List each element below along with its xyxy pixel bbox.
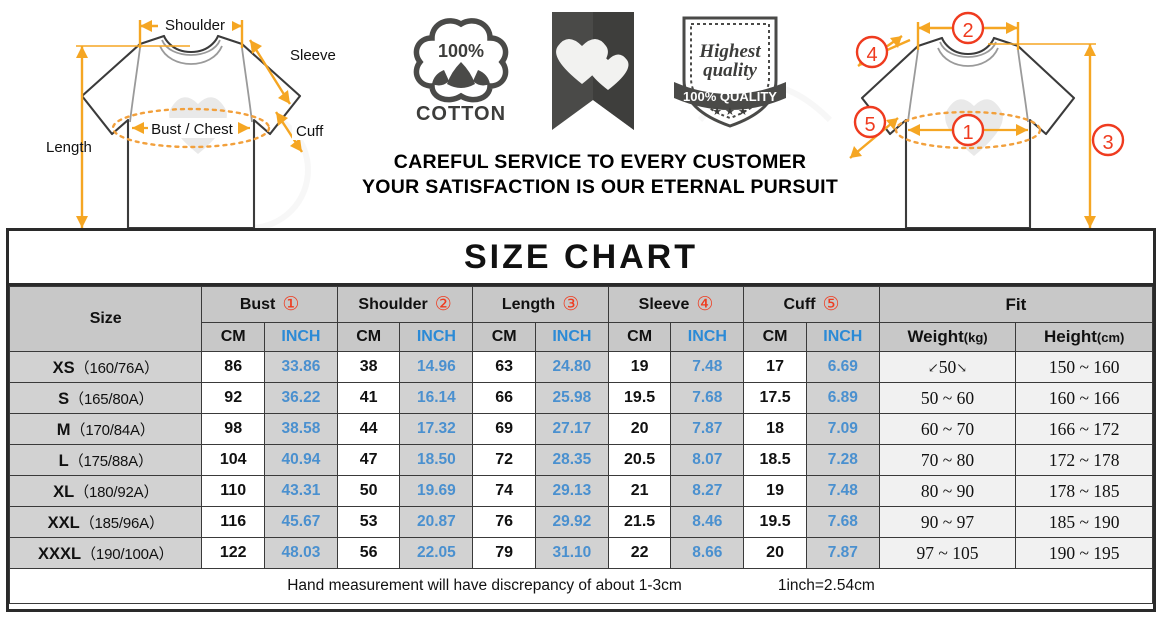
size-spec: （165/80A） <box>69 391 153 408</box>
table-body: XS（160/76A）8633.863814.966324.80197.4817… <box>10 352 1153 569</box>
cell-sleeve-cm: 20.5 <box>608 445 671 476</box>
header-bust-cm: CM <box>202 323 265 352</box>
arrow-right-icon: ↘ <box>956 360 967 375</box>
cell-length-cm: 66 <box>473 383 536 414</box>
cell-bust-in: 48.03 <box>265 538 338 569</box>
cell-sleeve-in: 7.87 <box>671 414 744 445</box>
cell-sleeve-cm: 20 <box>608 414 671 445</box>
size-code: L <box>59 452 69 470</box>
marker-4-icon: ④ <box>696 294 713 315</box>
cell-shoulder-cm: 44 <box>337 414 400 445</box>
page-title: SIZE CHART <box>9 231 1153 286</box>
cell-height: 172 ~ 178 <box>1016 445 1153 476</box>
size-spec: （185/96A） <box>80 515 164 532</box>
hearts-ribbon-badge <box>538 12 648 130</box>
label-bust-chest: Bust / Chest <box>151 121 234 138</box>
table-row: XS（160/76A）8633.863814.966324.80197.4817… <box>10 352 1153 383</box>
top-graphics-area: Shoulder Sleeve Cuff Bust / Chest Length… <box>0 0 1164 228</box>
svg-text:100%: 100% <box>438 41 484 61</box>
cell-size: XXL（185/96A） <box>10 507 202 538</box>
cell-bust-in: 40.94 <box>265 445 338 476</box>
marker-5-icon: ⑤ <box>822 294 839 315</box>
cell-cuff-in: 7.28 <box>806 445 879 476</box>
size-code: S <box>58 390 69 408</box>
cell-height: 166 ~ 172 <box>1016 414 1153 445</box>
cell-length-cm: 79 <box>473 538 536 569</box>
cell-height: 160 ~ 166 <box>1016 383 1153 414</box>
table-row: XXXL（190/100A）12248.035622.057931.10228.… <box>10 538 1153 569</box>
label-sleeve: Sleeve <box>290 47 336 64</box>
size-spec: （175/88A） <box>69 453 153 470</box>
cell-bust-cm: 98 <box>202 414 265 445</box>
cell-bust-cm: 116 <box>202 507 265 538</box>
cell-bust-in: 33.86 <box>265 352 338 383</box>
cell-cuff-in: 7.87 <box>806 538 879 569</box>
cell-length-cm: 72 <box>473 445 536 476</box>
cell-cuff-in: 7.48 <box>806 476 879 507</box>
cell-sleeve-in: 8.07 <box>671 445 744 476</box>
cell-weight: 97 ~ 105 <box>879 538 1016 569</box>
marker-shoulder-2: 2 <box>962 20 973 42</box>
cell-cuff-cm: 17.5 <box>744 383 807 414</box>
cell-length-cm: 74 <box>473 476 536 507</box>
table-row: L（175/88A）10440.944718.507228.3520.58.07… <box>10 445 1153 476</box>
header-shoulder-inch: INCH <box>400 323 473 352</box>
size-chart-table: Size Bust① Shoulder② Length③ Sleeve④ Cuf… <box>9 286 1153 604</box>
header-height: Height(cm) <box>1016 323 1153 352</box>
cotton-badge: 100% COTTON <box>406 12 516 130</box>
cell-size: XXXL（190/100A） <box>10 538 202 569</box>
slogan-line-1: CAREFUL SERVICE TO EVERY CUSTOMER <box>330 150 870 175</box>
highest-quality-badge: Highest quality 100% QUALITY ★ ★ ★ <box>670 12 790 130</box>
cell-weight: 90 ~ 97 <box>879 507 1016 538</box>
size-code: M <box>57 421 71 439</box>
slogan-block: CAREFUL SERVICE TO EVERY CUSTOMER YOUR S… <box>330 150 870 200</box>
cell-length-cm: 63 <box>473 352 536 383</box>
weight-value: 50 <box>939 357 957 377</box>
page-title-text: SIZE CHART <box>464 238 698 276</box>
header-size: Size <box>10 287 202 352</box>
size-spec: （190/100A） <box>81 546 173 563</box>
header-fit: Fit <box>879 287 1152 323</box>
table-row: XL（180/92A）11043.315019.697429.13218.271… <box>10 476 1153 507</box>
size-code: XXL <box>48 514 80 532</box>
cell-shoulder-cm: 50 <box>337 476 400 507</box>
cell-length-in: 29.13 <box>535 476 608 507</box>
cell-weight: 70 ~ 80 <box>879 445 1016 476</box>
cell-cuff-cm: 17 <box>744 352 807 383</box>
marker-cuff-5: 5 <box>864 114 875 136</box>
marker-bust-1: 1 <box>962 122 973 144</box>
cell-length-in: 28.35 <box>535 445 608 476</box>
cell-height: 178 ~ 185 <box>1016 476 1153 507</box>
cell-shoulder-cm: 53 <box>337 507 400 538</box>
size-chart-box: SIZE CHART Size Bust① Shoul <box>6 228 1156 612</box>
footer-note: Hand measurement will have discrepancy o… <box>287 577 682 595</box>
cell-cuff-cm: 19 <box>744 476 807 507</box>
header-cuff-cm: CM <box>744 323 807 352</box>
size-chart-page: Shoulder Sleeve Cuff Bust / Chest Length… <box>0 0 1164 620</box>
cell-shoulder-cm: 41 <box>337 383 400 414</box>
header-sleeve: Sleeve④ <box>608 287 743 323</box>
header-sleeve-cm: CM <box>608 323 671 352</box>
cell-bust-in: 36.22 <box>265 383 338 414</box>
cell-size: XS（160/76A） <box>10 352 202 383</box>
cell-cuff-in: 7.09 <box>806 414 879 445</box>
cell-shoulder-cm: 38 <box>337 352 400 383</box>
cell-shoulder-in: 18.50 <box>400 445 473 476</box>
cell-size: XL（180/92A） <box>10 476 202 507</box>
header-cuff-inch: INCH <box>806 323 879 352</box>
header-length-inch: INCH <box>535 323 608 352</box>
marker-2-icon: ② <box>435 294 452 315</box>
header-shoulder-cm: CM <box>337 323 400 352</box>
slogan-line-2: YOUR SATISFACTION IS OUR ETERNAL PURSUIT <box>330 175 870 200</box>
cell-length-in: 29.92 <box>535 507 608 538</box>
cell-cuff-cm: 20 <box>744 538 807 569</box>
cell-weight: ↙50↘ <box>879 352 1016 383</box>
table-header: Size Bust① Shoulder② Length③ Sleeve④ Cuf… <box>10 287 1153 352</box>
marker-sleeve-4: 4 <box>866 44 877 66</box>
cell-cuff-cm: 18.5 <box>744 445 807 476</box>
header-shoulder: Shoulder② <box>337 287 472 323</box>
header-length-cm: CM <box>473 323 536 352</box>
cell-cuff-in: 7.68 <box>806 507 879 538</box>
marker-1-icon: ① <box>282 294 299 315</box>
cell-length-in: 24.80 <box>535 352 608 383</box>
size-code: XS <box>53 359 75 377</box>
cell-bust-in: 38.58 <box>265 414 338 445</box>
cell-shoulder-in: 14.96 <box>400 352 473 383</box>
cell-bust-cm: 86 <box>202 352 265 383</box>
cell-length-in: 25.98 <box>535 383 608 414</box>
cell-size: M（170/84A） <box>10 414 202 445</box>
cell-size: L（175/88A） <box>10 445 202 476</box>
arrow-left-icon: ↙ <box>928 360 939 375</box>
table-footer: Hand measurement will have discrepancy o… <box>10 569 1153 604</box>
cell-shoulder-in: 19.69 <box>400 476 473 507</box>
cell-size: S（165/80A） <box>10 383 202 414</box>
header-sleeve-inch: INCH <box>671 323 744 352</box>
header-bust: Bust① <box>202 287 337 323</box>
size-code: XL <box>53 483 74 501</box>
label-length: Length <box>46 139 92 156</box>
marker-length-3: 3 <box>1102 132 1113 154</box>
marker-3-icon: ③ <box>562 294 579 315</box>
cell-shoulder-in: 17.32 <box>400 414 473 445</box>
cell-sleeve-in: 7.48 <box>671 352 744 383</box>
cell-bust-in: 45.67 <box>265 507 338 538</box>
cell-shoulder-in: 22.05 <box>400 538 473 569</box>
cell-cuff-in: 6.69 <box>806 352 879 383</box>
size-spec: （170/84A） <box>71 422 155 439</box>
cell-sleeve-cm: 21 <box>608 476 671 507</box>
tshirt-diagram-right: 2 1 3 4 5 <box>840 0 1140 228</box>
cell-length-in: 27.17 <box>535 414 608 445</box>
svg-text:Highest: Highest <box>698 41 761 62</box>
footer-cell: Hand measurement will have discrepancy o… <box>10 569 1153 604</box>
cell-bust-cm: 104 <box>202 445 265 476</box>
cell-bust-in: 43.31 <box>265 476 338 507</box>
svg-text:100% QUALITY: 100% QUALITY <box>683 89 777 104</box>
cell-sleeve-in: 8.27 <box>671 476 744 507</box>
cell-sleeve-cm: 19.5 <box>608 383 671 414</box>
header-weight: Weight(kg) <box>879 323 1016 352</box>
svg-text:COTTON: COTTON <box>416 103 506 125</box>
size-spec: （160/76A） <box>75 360 159 377</box>
cell-height: 150 ~ 160 <box>1016 352 1153 383</box>
cell-shoulder-cm: 56 <box>337 538 400 569</box>
cell-height: 190 ~ 195 <box>1016 538 1153 569</box>
size-spec: （180/92A） <box>74 484 158 501</box>
cell-sleeve-cm: 19 <box>608 352 671 383</box>
header-cuff: Cuff⑤ <box>744 287 879 323</box>
cell-height: 185 ~ 190 <box>1016 507 1153 538</box>
cell-weight: 80 ~ 90 <box>879 476 1016 507</box>
cell-length-cm: 76 <box>473 507 536 538</box>
cell-weight: 50 ~ 60 <box>879 383 1016 414</box>
label-shoulder: Shoulder <box>165 17 225 34</box>
table-row: M（170/84A）9838.584417.326927.17207.87187… <box>10 414 1153 445</box>
cell-length-cm: 69 <box>473 414 536 445</box>
cell-cuff-cm: 18 <box>744 414 807 445</box>
svg-text:quality: quality <box>703 60 757 81</box>
header-length: Length③ <box>473 287 608 323</box>
cell-sleeve-cm: 21.5 <box>608 507 671 538</box>
tshirt-diagram-left: Shoulder Sleeve Cuff Bust / Chest Length <box>40 0 370 228</box>
svg-text:★ ★ ★: ★ ★ ★ <box>712 106 748 118</box>
cell-shoulder-cm: 47 <box>337 445 400 476</box>
cell-sleeve-in: 8.66 <box>671 538 744 569</box>
cell-weight: 60 ~ 70 <box>879 414 1016 445</box>
cell-cuff-cm: 19.5 <box>744 507 807 538</box>
table-row: XXL（185/96A）11645.675320.877629.9221.58.… <box>10 507 1153 538</box>
footer-conversion: 1inch=2.54cm <box>778 577 875 595</box>
cell-length-in: 31.10 <box>535 538 608 569</box>
cell-shoulder-in: 16.14 <box>400 383 473 414</box>
cell-bust-cm: 110 <box>202 476 265 507</box>
cell-shoulder-in: 20.87 <box>400 507 473 538</box>
cell-sleeve-in: 7.68 <box>671 383 744 414</box>
cell-bust-cm: 92 <box>202 383 265 414</box>
size-code: XXXL <box>38 545 81 563</box>
cell-sleeve-cm: 22 <box>608 538 671 569</box>
cell-cuff-in: 6.89 <box>806 383 879 414</box>
cell-bust-cm: 122 <box>202 538 265 569</box>
header-bust-inch: INCH <box>265 323 338 352</box>
label-cuff: Cuff <box>296 123 324 140</box>
table-row: S（165/80A）9236.224116.146625.9819.57.681… <box>10 383 1153 414</box>
cell-sleeve-in: 8.46 <box>671 507 744 538</box>
trust-badges: 100% COTTON <box>398 12 798 132</box>
